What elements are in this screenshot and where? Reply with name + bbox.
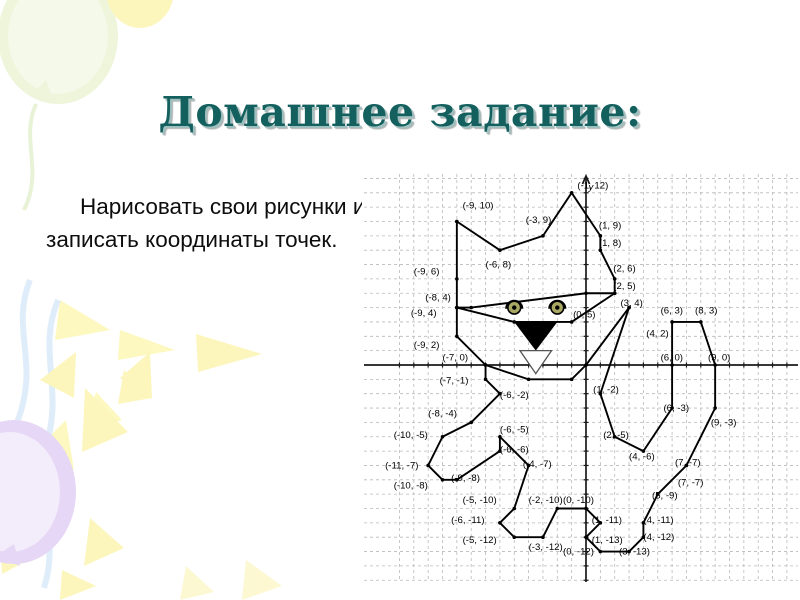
body-paragraph: Нарисовать свои рисунки и записать коорд… (46, 190, 366, 256)
coordinate-label: (-9, 2) (414, 340, 440, 351)
coordinate-label: (-10, -5) (394, 430, 428, 441)
coordinate-label: (4, -11) (643, 515, 673, 526)
coordinate-label: (-3, 9) (526, 215, 552, 226)
coordinate-label: (6, 0) (661, 353, 683, 364)
coordinate-label: (-10, -8) (394, 480, 428, 491)
coordinate-label: (6, 3) (661, 305, 683, 316)
coordinate-label: (-8, -4) (428, 409, 457, 420)
coordinate-plot-svg: y (-9, 10)(-3, 9)(-6, 8)(-1, 12)(1, 9)(1… (362, 172, 800, 584)
confetti-rays-top (8, 300, 175, 540)
coordinate-label: (2, 5) (613, 281, 635, 292)
coordinate-label: (0, -10) (563, 495, 594, 506)
coordinate-label: (-1, 12) (577, 180, 608, 191)
coordinate-label: (-2, -10) (529, 495, 563, 506)
coordinate-label: (8, 3) (695, 305, 717, 316)
coordinate-label: (4, -6) (629, 452, 655, 463)
coordinate-label: (0, 5) (573, 310, 595, 321)
coordinate-label: (4, 2) (646, 328, 668, 339)
coordinate-label: (-9, 4) (411, 308, 437, 319)
coordinate-plot: y (-9, 10)(-3, 9)(-6, 8)(-1, 12)(1, 9)(1… (362, 172, 800, 584)
coordinate-label: (-9, -8) (451, 473, 480, 484)
plot-background (362, 172, 800, 584)
coordinate-label: (5, -9) (652, 490, 678, 501)
coordinate-label: (-4, -7) (523, 459, 552, 470)
coordinate-label: (7, -7) (678, 478, 704, 489)
coordinate-label: (-8, 4) (425, 292, 451, 303)
coordinate-label: (-6, -11) (451, 515, 484, 526)
coordinate-label: (-9, 10) (463, 201, 494, 212)
coordinate-label: (3, 4) (620, 298, 642, 309)
coordinate-label: (7, -7) (675, 457, 701, 468)
coordinate-label: (-6, 8) (486, 259, 512, 270)
coordinate-label: (0, -12) (563, 546, 594, 557)
coordinate-label: (-11, -7) (385, 460, 418, 471)
coordinate-label: (4, -12) (643, 532, 674, 543)
confetti-streak-bottom (180, 560, 282, 600)
coordinate-label: (1, 9) (599, 221, 621, 232)
slide-canvas: Домашнее задание: Нарисовать свои рисунк… (0, 0, 800, 600)
coordinate-label: (2, -5) (603, 430, 629, 441)
coordinate-label: (-5, -10) (463, 495, 497, 506)
coordinate-label: (-3, -12) (529, 542, 563, 553)
coordinate-label: (-6, -5) (500, 424, 529, 435)
coordinate-label: (-7, 0) (443, 353, 469, 364)
coordinate-label: (3, -13) (619, 546, 650, 557)
coordinate-label: (9, 0) (708, 353, 730, 364)
balloon-purple-icon (0, 420, 76, 566)
page-title: Домашнее задание: (0, 88, 800, 136)
confetti-rays-mid (0, 334, 262, 574)
coordinate-label: (1, -13) (592, 535, 623, 546)
coordinate-label: (2, 6) (613, 264, 635, 275)
coordinate-label: (1, -2) (593, 384, 619, 395)
ribbon-blue-icon (15, 280, 58, 588)
coordinate-label: (-6, -6) (500, 445, 529, 456)
coordinate-label: (1, 8) (599, 238, 621, 249)
coordinate-label: (-9, 6) (414, 267, 440, 278)
coordinate-label: (9, -3) (711, 417, 737, 428)
coordinate-label: (-7, -1) (440, 376, 469, 387)
coordinate-label: (-5, -12) (463, 535, 497, 546)
balloon-yellow-icon (106, 0, 174, 28)
coordinate-label: (-6, -2) (500, 390, 529, 401)
coordinate-label: (1, -11) (592, 515, 622, 526)
confetti-rays-bottom (40, 352, 152, 600)
coordinate-label: (6, -3) (663, 403, 689, 414)
